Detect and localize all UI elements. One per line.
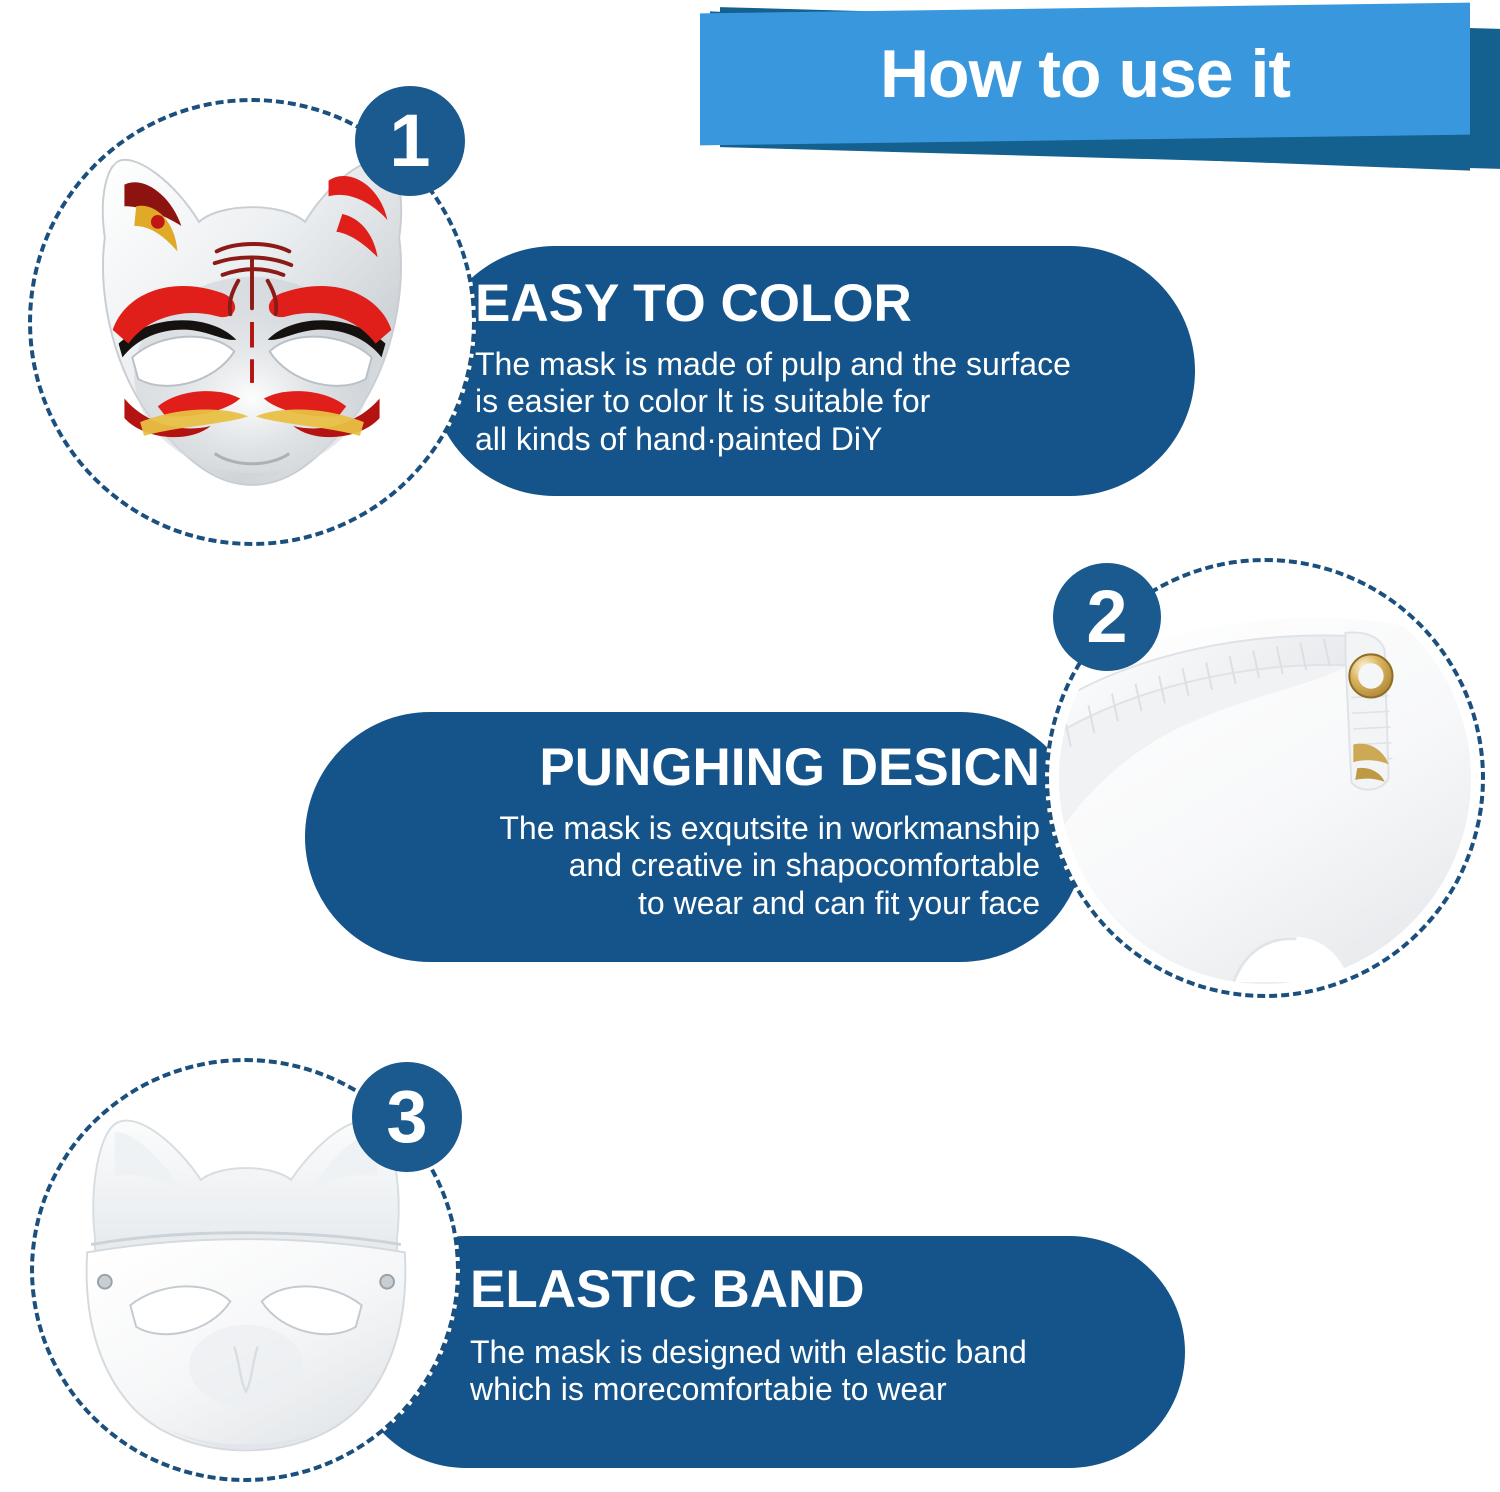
step-3-body: The mask is designed with elastic band w… [470,1334,1185,1410]
step-3-body-line-2: which is morecomfortabie to wear [470,1371,1185,1409]
step-1-body-line-3: all kinds of hand·painted DiY [475,421,1195,459]
step-badge-2: 2 [1053,563,1161,671]
step-2-body-line-1: The mask is exqutsite in workmanship [305,810,1040,848]
infographic-page: How to use it EASY TO COLOR The mask is … [0,0,1500,1492]
header-banner: How to use it [700,8,1500,168]
step-3-title: ELASTIC BAND [470,1262,1185,1318]
step-2-body-line-3: to wear and can fit your face [305,885,1040,923]
step-1-body-line-2: is easier to color lt is suitable for [475,383,1195,421]
step-1-title: EASY TO COLOR [475,276,1195,332]
step-badge-1: 1 [355,86,465,196]
step-card-2: PUNGHING DESICN The mask is exqutsite in… [305,712,1085,962]
step-2-title: PUNGHING DESICN [305,740,1040,796]
step-card-1: EASY TO COLOR The mask is made of pulp a… [430,246,1195,496]
step-1-body: The mask is made of pulp and the surface… [475,346,1195,459]
page-title: How to use it [700,8,1470,140]
step-card-3: ELASTIC BAND The mask is designed with e… [350,1236,1185,1468]
step-badge-3: 3 [352,1062,462,1172]
step-2-body-line-2: and creative in shapocomfortable [305,847,1040,885]
step-2-body: The mask is exqutsite in workmanship and… [305,810,1040,923]
step-1-body-line-1: The mask is made of pulp and the surface [475,346,1195,384]
step-3-body-line-1: The mask is designed with elastic band [470,1334,1185,1372]
